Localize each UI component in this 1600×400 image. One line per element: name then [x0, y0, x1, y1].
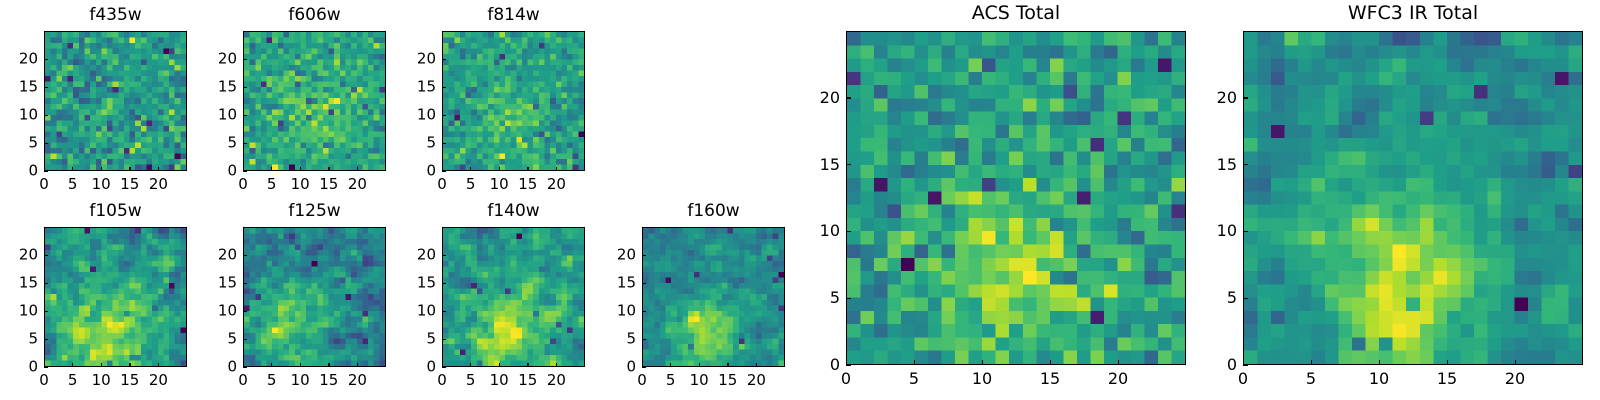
y-tick-f125w-20	[243, 255, 247, 256]
x-tick-label-f140w-20: 20	[547, 373, 566, 388]
y-tick-f435w-5	[44, 143, 48, 144]
x-tick-acs-total-20	[1118, 360, 1119, 365]
x-tick-label-f814w-20: 20	[547, 177, 566, 192]
heatmap-image-f814w	[443, 32, 584, 170]
y-tick-f160w-10	[642, 311, 646, 312]
x-tick-f140w-10	[499, 363, 500, 367]
y-tick-label-f140w-5: 5	[426, 332, 436, 347]
x-tick-f125w-15	[328, 363, 329, 367]
heatmap-image-f125w	[244, 228, 385, 366]
y-tick-label-wfc3-ir-total-20: 20	[1217, 90, 1237, 106]
x-tick-label-f814w-10: 10	[490, 177, 509, 192]
y-tick-label-f140w-20: 20	[417, 248, 436, 263]
y-tick-label-f140w-0: 0	[426, 360, 436, 375]
y-tick-f606w-10	[243, 115, 247, 116]
x-tick-f140w-5	[470, 363, 471, 367]
x-tick-label-f105w-15: 15	[120, 373, 139, 388]
panel-title-f140w: f140w	[442, 203, 585, 220]
x-tick-f814w-20	[556, 167, 557, 171]
y-tick-f140w-5	[442, 339, 446, 340]
x-tick-f435w-15	[129, 167, 130, 171]
y-tick-label-f814w-5: 5	[426, 136, 436, 151]
x-tick-f814w-15	[527, 167, 528, 171]
y-tick-label-acs-total-0: 0	[830, 357, 840, 373]
heatmap-axes-f606w	[243, 31, 386, 171]
panel-f140w: f140w0510152005101520	[442, 227, 585, 367]
y-tick-label-f606w-5: 5	[227, 136, 237, 151]
heatmap-image-wfc3-ir-total	[1244, 32, 1582, 364]
panel-f125w: f125w0510152005101520	[243, 227, 386, 367]
y-tick-label-f125w-20: 20	[218, 248, 237, 263]
x-tick-label-f435w-10: 10	[92, 177, 111, 192]
x-tick-f606w-20	[357, 167, 358, 171]
y-tick-acs-total-10	[846, 231, 851, 232]
y-tick-f160w-20	[642, 255, 646, 256]
x-tick-f435w-10	[101, 167, 102, 171]
heatmap-axes-wfc3-ir-total	[1243, 31, 1583, 365]
y-tick-acs-total-5	[846, 298, 851, 299]
x-tick-label-f435w-15: 15	[120, 177, 139, 192]
x-tick-label-wfc3-ir-total-15: 15	[1437, 371, 1457, 387]
y-tick-acs-total-0	[846, 365, 851, 366]
x-tick-f125w-20	[357, 363, 358, 367]
heatmap-axes-f105w	[44, 227, 187, 367]
y-tick-label-f814w-20: 20	[417, 52, 436, 67]
x-tick-label-f105w-20: 20	[149, 373, 168, 388]
y-tick-f435w-0	[44, 171, 48, 172]
x-tick-label-f160w-20: 20	[747, 373, 766, 388]
x-tick-label-f125w-5: 5	[267, 373, 277, 388]
heatmap-axes-f140w	[442, 227, 585, 367]
x-tick-label-f140w-10: 10	[490, 373, 509, 388]
y-tick-f160w-0	[642, 367, 646, 368]
panel-title-f105w: f105w	[44, 203, 187, 220]
x-tick-label-f105w-5: 5	[68, 373, 78, 388]
x-tick-label-acs-total-10: 10	[972, 371, 992, 387]
x-tick-label-f125w-10: 10	[291, 373, 310, 388]
y-tick-f814w-10	[442, 115, 446, 116]
y-tick-label-f140w-15: 15	[417, 276, 436, 291]
y-tick-f140w-20	[442, 255, 446, 256]
heatmap-image-acs-total	[847, 32, 1185, 364]
panel-title-f435w: f435w	[44, 7, 187, 24]
x-tick-f606w-15	[328, 167, 329, 171]
y-tick-wfc3-ir-total-20	[1243, 97, 1248, 98]
x-tick-label-wfc3-ir-total-0: 0	[1238, 371, 1248, 387]
x-tick-label-f606w-0: 0	[238, 177, 248, 192]
x-tick-label-wfc3-ir-total-10: 10	[1369, 371, 1389, 387]
y-tick-f125w-10	[243, 311, 247, 312]
panel-title-acs-total: ACS Total	[846, 4, 1186, 23]
panel-f105w: f105w0510152005101520	[44, 227, 187, 367]
x-tick-f105w-15	[129, 363, 130, 367]
x-tick-label-wfc3-ir-total-5: 5	[1306, 371, 1316, 387]
x-tick-label-f140w-0: 0	[437, 373, 447, 388]
x-tick-f160w-10	[699, 363, 700, 367]
heatmap-axes-acs-total	[846, 31, 1186, 365]
heatmap-image-f435w	[45, 32, 186, 170]
y-tick-label-f140w-10: 10	[417, 304, 436, 319]
panel-title-f814w: f814w	[442, 7, 585, 24]
panel-title-f160w: f160w	[642, 203, 785, 220]
y-tick-f125w-5	[243, 339, 247, 340]
panel-f435w: f435w0510152005101520	[44, 31, 187, 171]
heatmap-image-f140w	[443, 228, 584, 366]
x-tick-f435w-5	[72, 167, 73, 171]
x-tick-label-f160w-5: 5	[666, 373, 676, 388]
x-tick-label-f606w-20: 20	[348, 177, 367, 192]
y-tick-label-f160w-10: 10	[617, 304, 636, 319]
x-tick-acs-total-5	[914, 360, 915, 365]
panel-f160w: f160w0510152005101520	[642, 227, 785, 367]
panel-f814w: f814w0510152005101520	[442, 31, 585, 171]
y-tick-label-acs-total-5: 5	[830, 290, 840, 306]
panel-title-wfc3-ir-total: WFC3 IR Total	[1243, 4, 1583, 23]
y-tick-wfc3-ir-total-5	[1243, 298, 1248, 299]
y-tick-label-f125w-5: 5	[227, 332, 237, 347]
x-tick-wfc3-ir-total-10	[1379, 360, 1380, 365]
x-tick-f435w-20	[158, 167, 159, 171]
y-tick-f125w-15	[243, 283, 247, 284]
y-tick-label-acs-total-15: 15	[820, 157, 840, 173]
x-tick-label-f140w-15: 15	[518, 373, 537, 388]
x-tick-label-acs-total-5: 5	[909, 371, 919, 387]
y-tick-label-f105w-10: 10	[19, 304, 38, 319]
y-tick-f140w-10	[442, 311, 446, 312]
x-tick-label-acs-total-20: 20	[1108, 371, 1128, 387]
y-tick-f105w-0	[44, 367, 48, 368]
heatmap-axes-f125w	[243, 227, 386, 367]
x-tick-label-f606w-5: 5	[267, 177, 277, 192]
y-tick-f435w-15	[44, 87, 48, 88]
y-tick-f105w-10	[44, 311, 48, 312]
panel-acs-total: ACS Total0510152005101520	[846, 31, 1186, 365]
y-tick-label-acs-total-20: 20	[820, 90, 840, 106]
y-tick-label-f606w-20: 20	[218, 52, 237, 67]
x-tick-f160w-20	[756, 363, 757, 367]
y-tick-label-f125w-15: 15	[218, 276, 237, 291]
x-tick-f606w-10	[300, 167, 301, 171]
x-tick-f105w-10	[101, 363, 102, 367]
heatmap-image-f160w	[643, 228, 784, 366]
y-tick-f814w-5	[442, 143, 446, 144]
x-tick-f160w-15	[727, 363, 728, 367]
y-tick-label-f814w-10: 10	[417, 108, 436, 123]
y-tick-label-acs-total-10: 10	[820, 223, 840, 239]
y-tick-f814w-15	[442, 87, 446, 88]
y-tick-label-wfc3-ir-total-0: 0	[1227, 357, 1237, 373]
panel-title-f125w: f125w	[243, 203, 386, 220]
x-tick-label-acs-total-0: 0	[841, 371, 851, 387]
y-tick-label-f606w-0: 0	[227, 164, 237, 179]
figure-canvas: f435w0510152005101520f606w05101520051015…	[0, 0, 1600, 400]
y-tick-label-f814w-15: 15	[417, 80, 436, 95]
y-tick-label-f160w-5: 5	[626, 332, 636, 347]
x-tick-wfc3-ir-total-5	[1311, 360, 1312, 365]
y-tick-label-f814w-0: 0	[426, 164, 436, 179]
x-tick-label-f105w-10: 10	[92, 373, 111, 388]
x-tick-label-f125w-0: 0	[238, 373, 248, 388]
panel-wfc3-ir-total: WFC3 IR Total0510152005101520	[1243, 31, 1583, 365]
y-tick-acs-total-20	[846, 97, 851, 98]
heatmap-axes-f160w	[642, 227, 785, 367]
y-tick-label-wfc3-ir-total-10: 10	[1217, 223, 1237, 239]
x-tick-label-f814w-5: 5	[466, 177, 476, 192]
y-tick-label-f606w-15: 15	[218, 80, 237, 95]
x-tick-f140w-15	[527, 363, 528, 367]
x-tick-f814w-10	[499, 167, 500, 171]
heatmap-image-f606w	[244, 32, 385, 170]
x-tick-f125w-5	[271, 363, 272, 367]
y-tick-acs-total-15	[846, 164, 851, 165]
x-tick-label-f160w-10: 10	[690, 373, 709, 388]
y-tick-label-f435w-0: 0	[28, 164, 38, 179]
y-tick-label-f606w-10: 10	[218, 108, 237, 123]
x-tick-f814w-5	[470, 167, 471, 171]
y-tick-label-f105w-15: 15	[19, 276, 38, 291]
y-tick-f105w-5	[44, 339, 48, 340]
y-tick-label-f105w-20: 20	[19, 248, 38, 263]
x-tick-label-f125w-20: 20	[348, 373, 367, 388]
x-tick-label-f160w-15: 15	[718, 373, 737, 388]
y-tick-label-f105w-5: 5	[28, 332, 38, 347]
y-tick-wfc3-ir-total-10	[1243, 231, 1248, 232]
x-tick-f105w-5	[72, 363, 73, 367]
y-tick-label-f435w-15: 15	[19, 80, 38, 95]
x-tick-label-f160w-0: 0	[637, 373, 647, 388]
heatmap-image-f105w	[45, 228, 186, 366]
y-tick-f435w-10	[44, 115, 48, 116]
panel-title-f606w: f606w	[243, 7, 386, 24]
y-tick-f606w-5	[243, 143, 247, 144]
x-tick-label-f606w-15: 15	[319, 177, 338, 192]
y-tick-label-f435w-5: 5	[28, 136, 38, 151]
y-tick-label-f125w-10: 10	[218, 304, 237, 319]
y-tick-label-f105w-0: 0	[28, 360, 38, 375]
y-tick-f606w-15	[243, 87, 247, 88]
x-tick-label-f140w-5: 5	[466, 373, 476, 388]
y-tick-label-f125w-0: 0	[227, 360, 237, 375]
x-tick-label-f105w-0: 0	[39, 373, 49, 388]
y-tick-label-f435w-20: 20	[19, 52, 38, 67]
x-tick-f125w-10	[300, 363, 301, 367]
y-tick-f105w-15	[44, 283, 48, 284]
y-tick-f140w-15	[442, 283, 446, 284]
x-tick-f140w-20	[556, 363, 557, 367]
y-tick-label-wfc3-ir-total-5: 5	[1227, 290, 1237, 306]
y-tick-label-f160w-20: 20	[617, 248, 636, 263]
x-tick-wfc3-ir-total-20	[1515, 360, 1516, 365]
y-tick-f140w-0	[442, 367, 446, 368]
y-tick-f105w-20	[44, 255, 48, 256]
x-tick-acs-total-15	[1050, 360, 1051, 365]
y-tick-f160w-5	[642, 339, 646, 340]
y-tick-f160w-15	[642, 283, 646, 284]
x-tick-label-wfc3-ir-total-20: 20	[1505, 371, 1525, 387]
x-tick-label-f814w-15: 15	[518, 177, 537, 192]
x-tick-label-f435w-20: 20	[149, 177, 168, 192]
y-tick-wfc3-ir-total-0	[1243, 365, 1248, 366]
x-tick-f606w-5	[271, 167, 272, 171]
heatmap-axes-f435w	[44, 31, 187, 171]
y-tick-label-f160w-0: 0	[626, 360, 636, 375]
y-tick-f125w-0	[243, 367, 247, 368]
y-tick-f606w-0	[243, 171, 247, 172]
y-tick-label-wfc3-ir-total-15: 15	[1217, 157, 1237, 173]
y-tick-label-f435w-10: 10	[19, 108, 38, 123]
heatmap-axes-f814w	[442, 31, 585, 171]
x-tick-label-acs-total-15: 15	[1040, 371, 1060, 387]
y-tick-label-f160w-15: 15	[617, 276, 636, 291]
x-tick-label-f435w-5: 5	[68, 177, 78, 192]
x-tick-wfc3-ir-total-15	[1447, 360, 1448, 365]
x-tick-acs-total-10	[982, 360, 983, 365]
x-tick-label-f435w-0: 0	[39, 177, 49, 192]
y-tick-wfc3-ir-total-15	[1243, 164, 1248, 165]
x-tick-label-f606w-10: 10	[291, 177, 310, 192]
y-tick-f606w-20	[243, 59, 247, 60]
y-tick-f814w-0	[442, 171, 446, 172]
x-tick-f105w-20	[158, 363, 159, 367]
x-tick-label-f125w-15: 15	[319, 373, 338, 388]
x-tick-f160w-5	[670, 363, 671, 367]
panel-f606w: f606w0510152005101520	[243, 31, 386, 171]
y-tick-f435w-20	[44, 59, 48, 60]
y-tick-f814w-20	[442, 59, 446, 60]
x-tick-label-f814w-0: 0	[437, 177, 447, 192]
